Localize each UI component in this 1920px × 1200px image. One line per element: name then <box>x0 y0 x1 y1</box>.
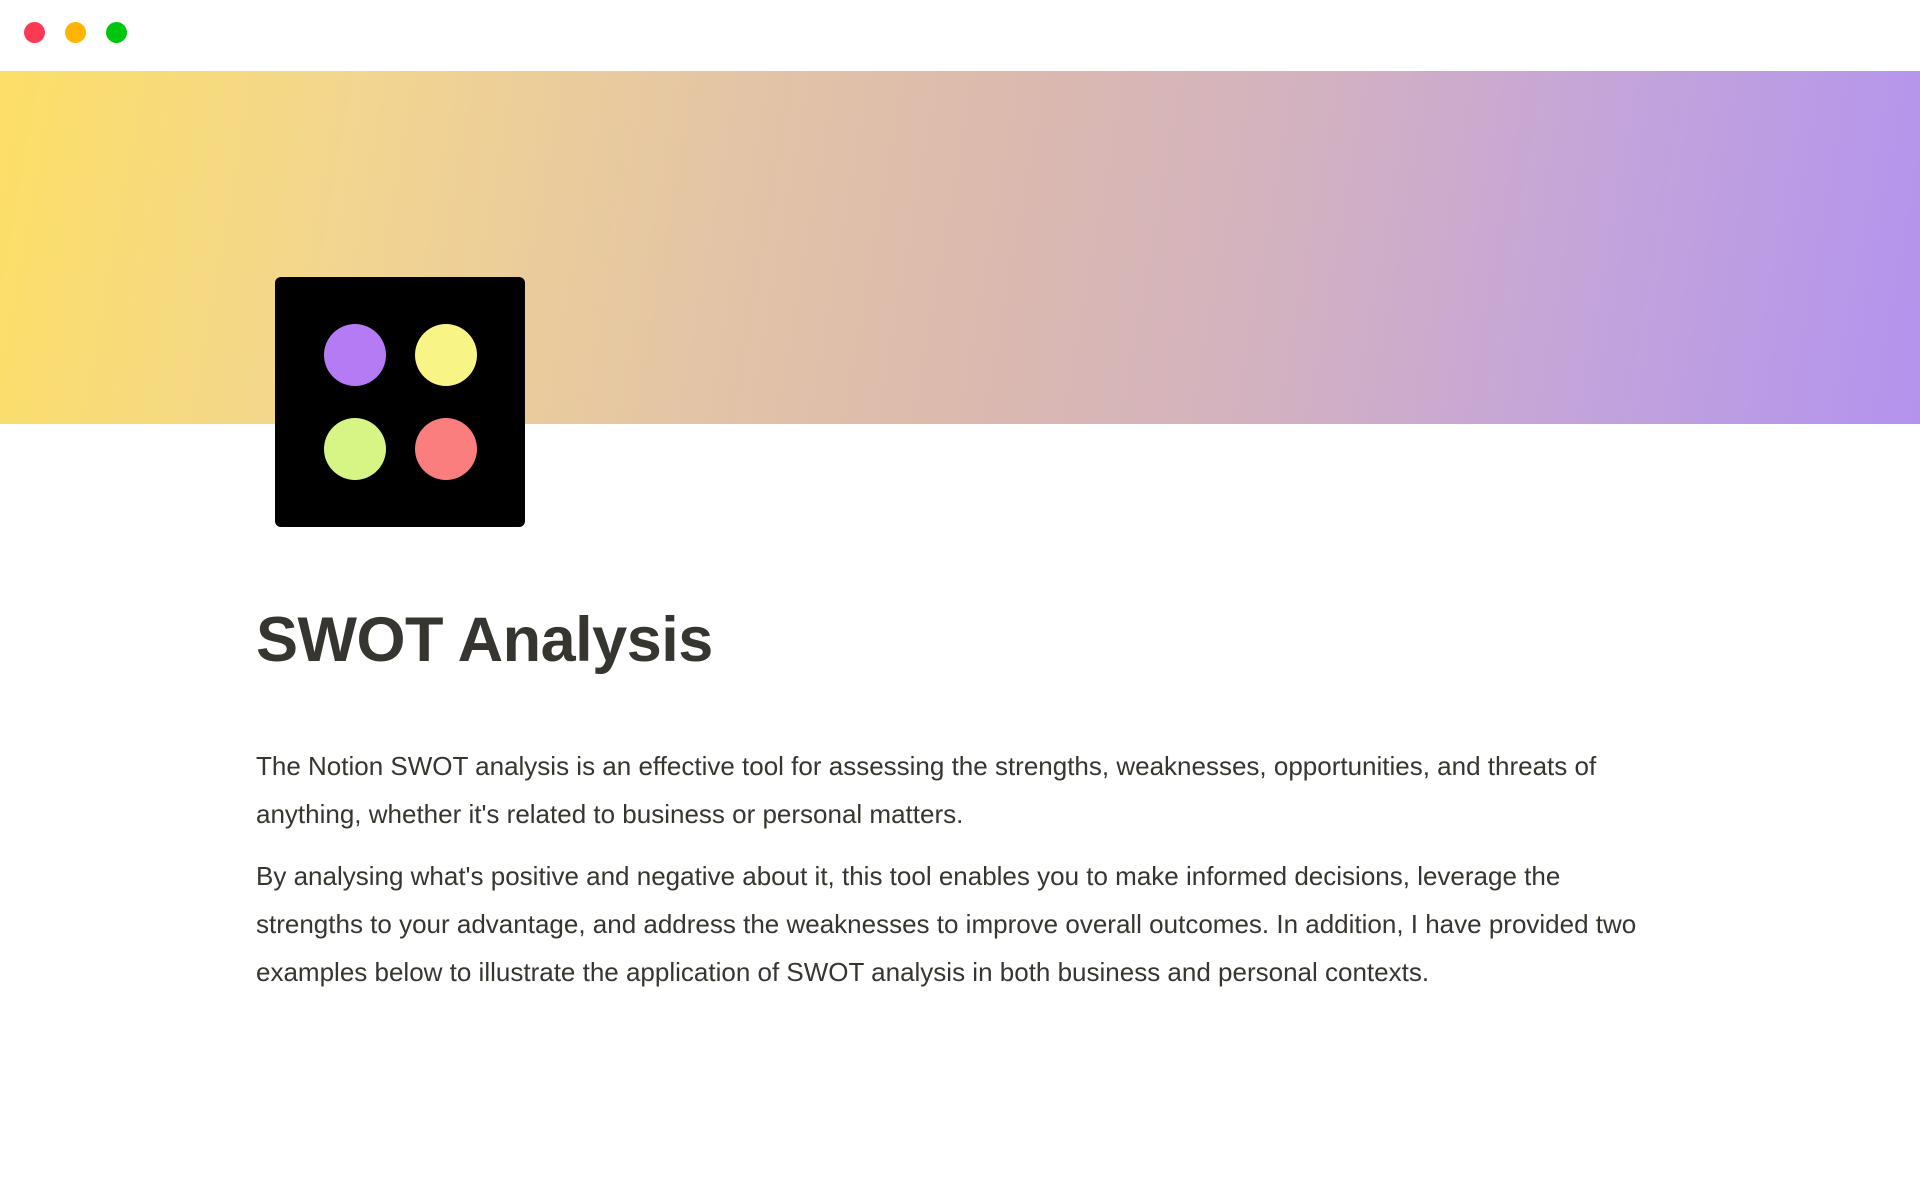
window-titlebar <box>0 0 1920 71</box>
app-window: SWOT Analysis The Notion SWOT analysis i… <box>0 0 1920 1200</box>
close-button[interactable] <box>24 22 45 43</box>
page-content: SWOT Analysis The Notion SWOT analysis i… <box>256 604 1686 996</box>
icon-dot-coral <box>415 418 477 480</box>
minimize-button[interactable] <box>65 22 86 43</box>
intro-paragraph-1[interactable]: The Notion SWOT analysis is an effective… <box>256 742 1656 838</box>
icon-dot-yellow <box>415 324 477 386</box>
window-controls <box>24 22 127 43</box>
icon-dot-lime <box>324 418 386 480</box>
icon-dot-purple <box>324 324 386 386</box>
intro-paragraph-2[interactable]: By analysing what's positive and negativ… <box>256 852 1656 996</box>
maximize-button[interactable] <box>106 22 127 43</box>
page-title[interactable]: SWOT Analysis <box>256 604 1686 676</box>
page-icon[interactable] <box>275 277 525 527</box>
